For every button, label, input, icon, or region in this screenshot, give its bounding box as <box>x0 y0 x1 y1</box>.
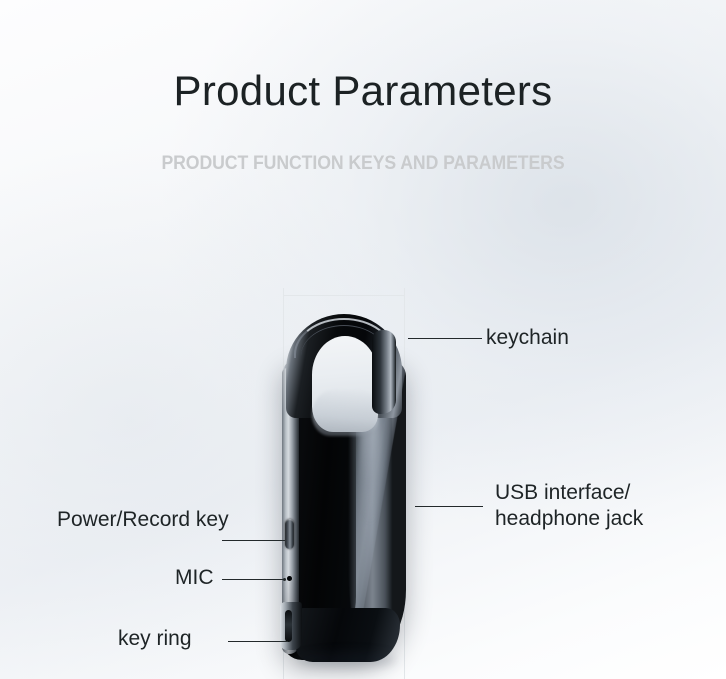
leader-dot-mic <box>283 578 286 581</box>
grid-line-horizontal <box>283 295 404 296</box>
callout-key-ring-label: key ring <box>118 627 192 650</box>
callout-keychain: keychain <box>486 325 569 351</box>
leader-line-power-record <box>222 540 285 541</box>
power-record-button <box>285 519 294 549</box>
page-title: Product Parameters <box>0 66 726 116</box>
key-ring-slot <box>285 610 292 642</box>
callout-key-ring: key ring <box>118 626 192 652</box>
callout-usb-headphone: USB interface/ headphone jack <box>495 480 643 532</box>
page-subtitle: PRODUCT FUNCTION KEYS AND PARAMETERS <box>25 152 700 175</box>
callout-usb-label-line2: headphone jack <box>495 506 643 532</box>
callout-usb-label-line1: USB interface/ <box>495 480 643 506</box>
callout-power-record-label: Power/Record key <box>57 508 229 531</box>
leader-line-mic <box>222 579 284 580</box>
callout-mic-label: MIC <box>175 566 214 589</box>
leader-line-keychain <box>408 338 482 339</box>
device-drop-shadow <box>298 652 396 668</box>
product-device-illustration <box>268 314 420 666</box>
callout-mic: MIC <box>175 565 214 591</box>
keychain-hook-opening-shading <box>312 390 378 436</box>
leader-line-usb <box>415 506 483 507</box>
mic-hole <box>287 576 292 581</box>
page-subtitle-line1: PRODUCT FUNCTION <box>161 153 343 174</box>
page-subtitle-line2: KEYS AND PARAMETERS <box>348 153 564 174</box>
callout-keychain-label: keychain <box>486 326 569 349</box>
leader-line-key-ring <box>228 641 288 642</box>
product-parameters-infographic: Product Parameters PRODUCT FUNCTION KEYS… <box>0 0 726 679</box>
keychain-hook-shoulder <box>372 330 396 414</box>
callout-power-record-key: Power/Record key <box>57 507 229 533</box>
